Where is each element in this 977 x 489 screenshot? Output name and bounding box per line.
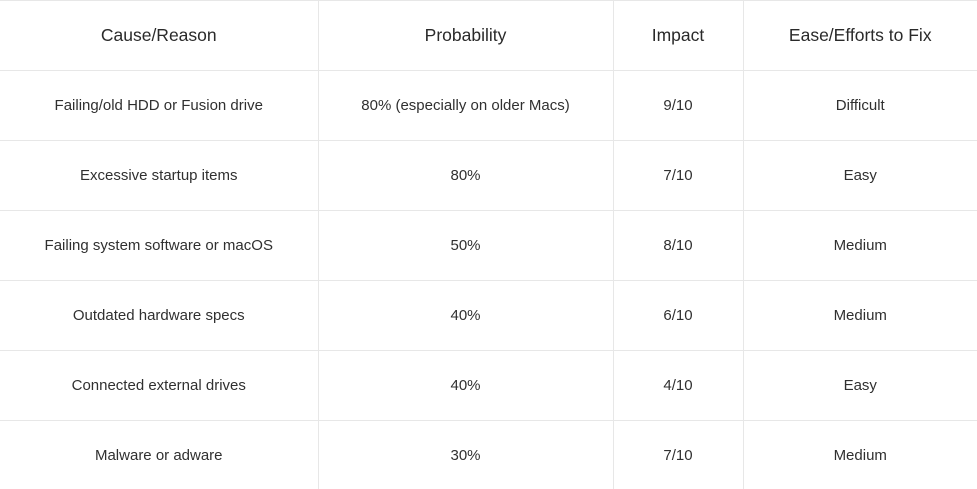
cell-ease: Easy [743, 351, 977, 421]
cell-impact: 8/10 [613, 211, 743, 281]
cell-ease: Medium [743, 421, 977, 489]
table-body: Failing/old HDD or Fusion drive 80% (esp… [0, 71, 977, 489]
cell-cause: Malware or adware [0, 421, 318, 489]
column-header-cause: Cause/Reason [0, 1, 318, 71]
causes-table: Cause/Reason Probability Impact Ease/Eff… [0, 0, 977, 489]
cell-impact: 7/10 [613, 141, 743, 211]
table-row: Outdated hardware specs 40% 6/10 Medium [0, 281, 977, 351]
table-row: Failing system software or macOS 50% 8/1… [0, 211, 977, 281]
column-header-ease: Ease/Efforts to Fix [743, 1, 977, 71]
cell-probability: 80% [318, 141, 613, 211]
cell-cause: Failing system software or macOS [0, 211, 318, 281]
table-row: Failing/old HDD or Fusion drive 80% (esp… [0, 71, 977, 141]
cell-cause: Failing/old HDD or Fusion drive [0, 71, 318, 141]
cell-cause: Outdated hardware specs [0, 281, 318, 351]
column-header-impact: Impact [613, 1, 743, 71]
cell-probability: 40% [318, 281, 613, 351]
table-row: Malware or adware 30% 7/10 Medium [0, 421, 977, 489]
cell-cause: Connected external drives [0, 351, 318, 421]
cell-impact: 7/10 [613, 421, 743, 489]
cell-impact: 4/10 [613, 351, 743, 421]
cell-probability: 40% [318, 351, 613, 421]
cell-ease: Medium [743, 211, 977, 281]
column-header-probability: Probability [318, 1, 613, 71]
table-header: Cause/Reason Probability Impact Ease/Eff… [0, 1, 977, 71]
cell-probability: 30% [318, 421, 613, 489]
cell-probability: 80% (especially on older Macs) [318, 71, 613, 141]
table-row: Excessive startup items 80% 7/10 Easy [0, 141, 977, 211]
table-row: Connected external drives 40% 4/10 Easy [0, 351, 977, 421]
table-header-row: Cause/Reason Probability Impact Ease/Eff… [0, 1, 977, 71]
table-container: Cause/Reason Probability Impact Ease/Eff… [0, 0, 977, 489]
cell-impact: 9/10 [613, 71, 743, 141]
cell-ease: Easy [743, 141, 977, 211]
cell-impact: 6/10 [613, 281, 743, 351]
cell-ease: Medium [743, 281, 977, 351]
cell-cause: Excessive startup items [0, 141, 318, 211]
cell-ease: Difficult [743, 71, 977, 141]
cell-probability: 50% [318, 211, 613, 281]
